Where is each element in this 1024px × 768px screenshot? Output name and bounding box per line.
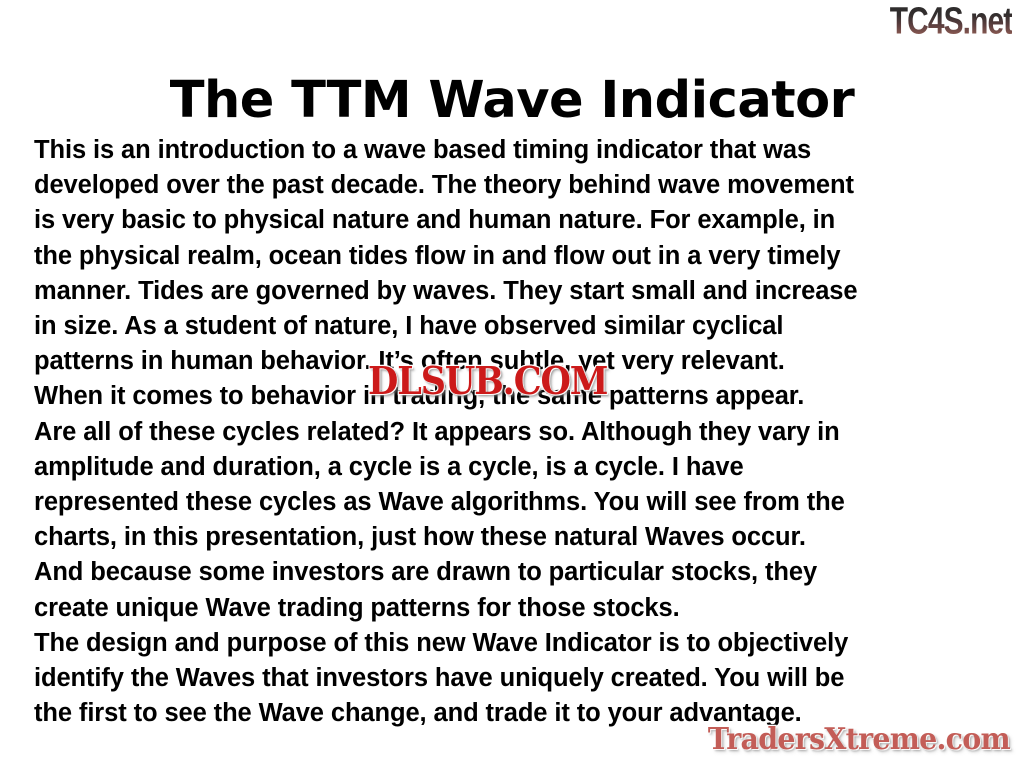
body-text-line: create unique Wave trading patterns for … — [34, 591, 1002, 626]
body-text-block: This is an introduction to a wave based … — [34, 133, 1002, 731]
body-text-line: developed over the past decade. The theo… — [34, 168, 1002, 203]
body-text-line: represented these cycles as Wave algorit… — [34, 485, 1002, 520]
tradersxtreme-brand-logo: TradersXtreme.com — [708, 724, 1010, 756]
body-text-line: This is an introduction to a wave based … — [34, 133, 1002, 168]
presentation-slide: TC4S.net The TTM Wave Indicator This is … — [0, 0, 1024, 768]
body-text-line: Are all of these cycles related? It appe… — [34, 415, 1002, 450]
body-text-line: identify the Waves that investors have u… — [34, 661, 1002, 696]
body-text-line: The design and purpose of this new Wave … — [34, 626, 1002, 661]
body-text-line: manner. Tides are governed by waves. The… — [34, 274, 1002, 309]
dlsub-watermark: DLSUB.COM — [368, 362, 607, 400]
body-text-line: charts, in this presentation, just how t… — [34, 520, 1002, 555]
body-text-line: the physical realm, ocean tides flow in … — [34, 239, 1002, 274]
body-text-line: is very basic to physical nature and hum… — [34, 203, 1002, 238]
body-text-line: amplitude and duration, a cycle is a cyc… — [34, 450, 1002, 485]
body-text-line: in size. As a student of nature, I have … — [34, 309, 1002, 344]
tc4s-brand-logo: TC4S.net — [889, 2, 1012, 40]
body-text-line: And because some investors are drawn to … — [34, 555, 1002, 590]
page-title: The TTM Wave Indicator — [0, 72, 1024, 130]
